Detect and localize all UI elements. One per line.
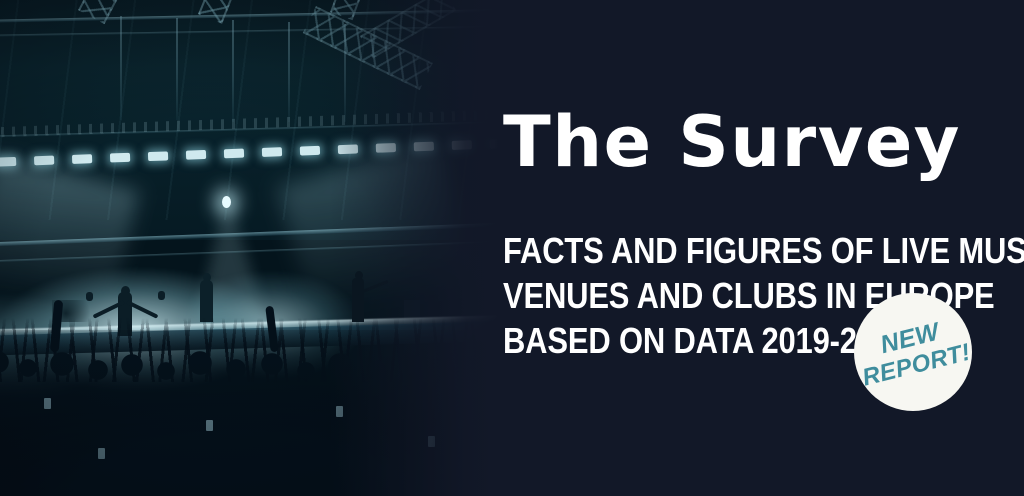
subtitle-line-1: FACTS AND FIGURES OF LIVE MUSIC	[503, 228, 1024, 273]
new-report-badge[interactable]: NEW REPORT!	[854, 293, 972, 411]
survey-report-banner: The Survey FACTS AND FIGURES OF LIVE MUS…	[0, 0, 1024, 496]
new-report-badge-text: NEW REPORT!	[853, 312, 973, 391]
photo-fade-overlay	[0, 0, 500, 496]
concert-photo	[0, 0, 500, 496]
text-panel: The Survey FACTS AND FIGURES OF LIVE MUS…	[455, 0, 1024, 496]
page-title: The Survey	[503, 105, 961, 179]
